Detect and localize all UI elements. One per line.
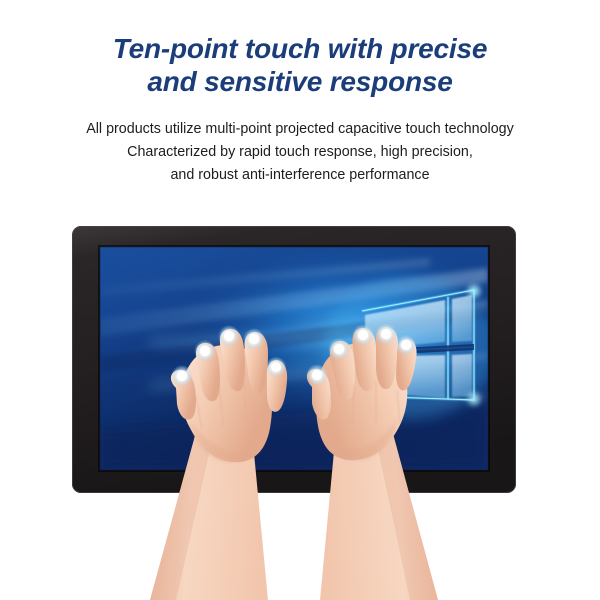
touch-point-r-pinky — [396, 335, 417, 356]
touch-point-l-pinky — [266, 357, 287, 378]
product-marketing-image: Ten-point touch with precise and sensiti… — [0, 0, 600, 600]
touch-point-r-ring — [375, 323, 397, 345]
touch-point-l-middle — [218, 325, 240, 347]
touch-point-l-ring — [243, 328, 265, 350]
touch-point-r-middle — [352, 324, 374, 346]
touch-point-r-index — [328, 338, 350, 360]
touch-point-l-index — [194, 340, 216, 362]
monitor-illustration — [0, 0, 600, 600]
monitor-screen — [100, 247, 496, 470]
touch-point-r-thumb — [306, 364, 328, 386]
touch-point-l-thumb — [171, 365, 193, 387]
